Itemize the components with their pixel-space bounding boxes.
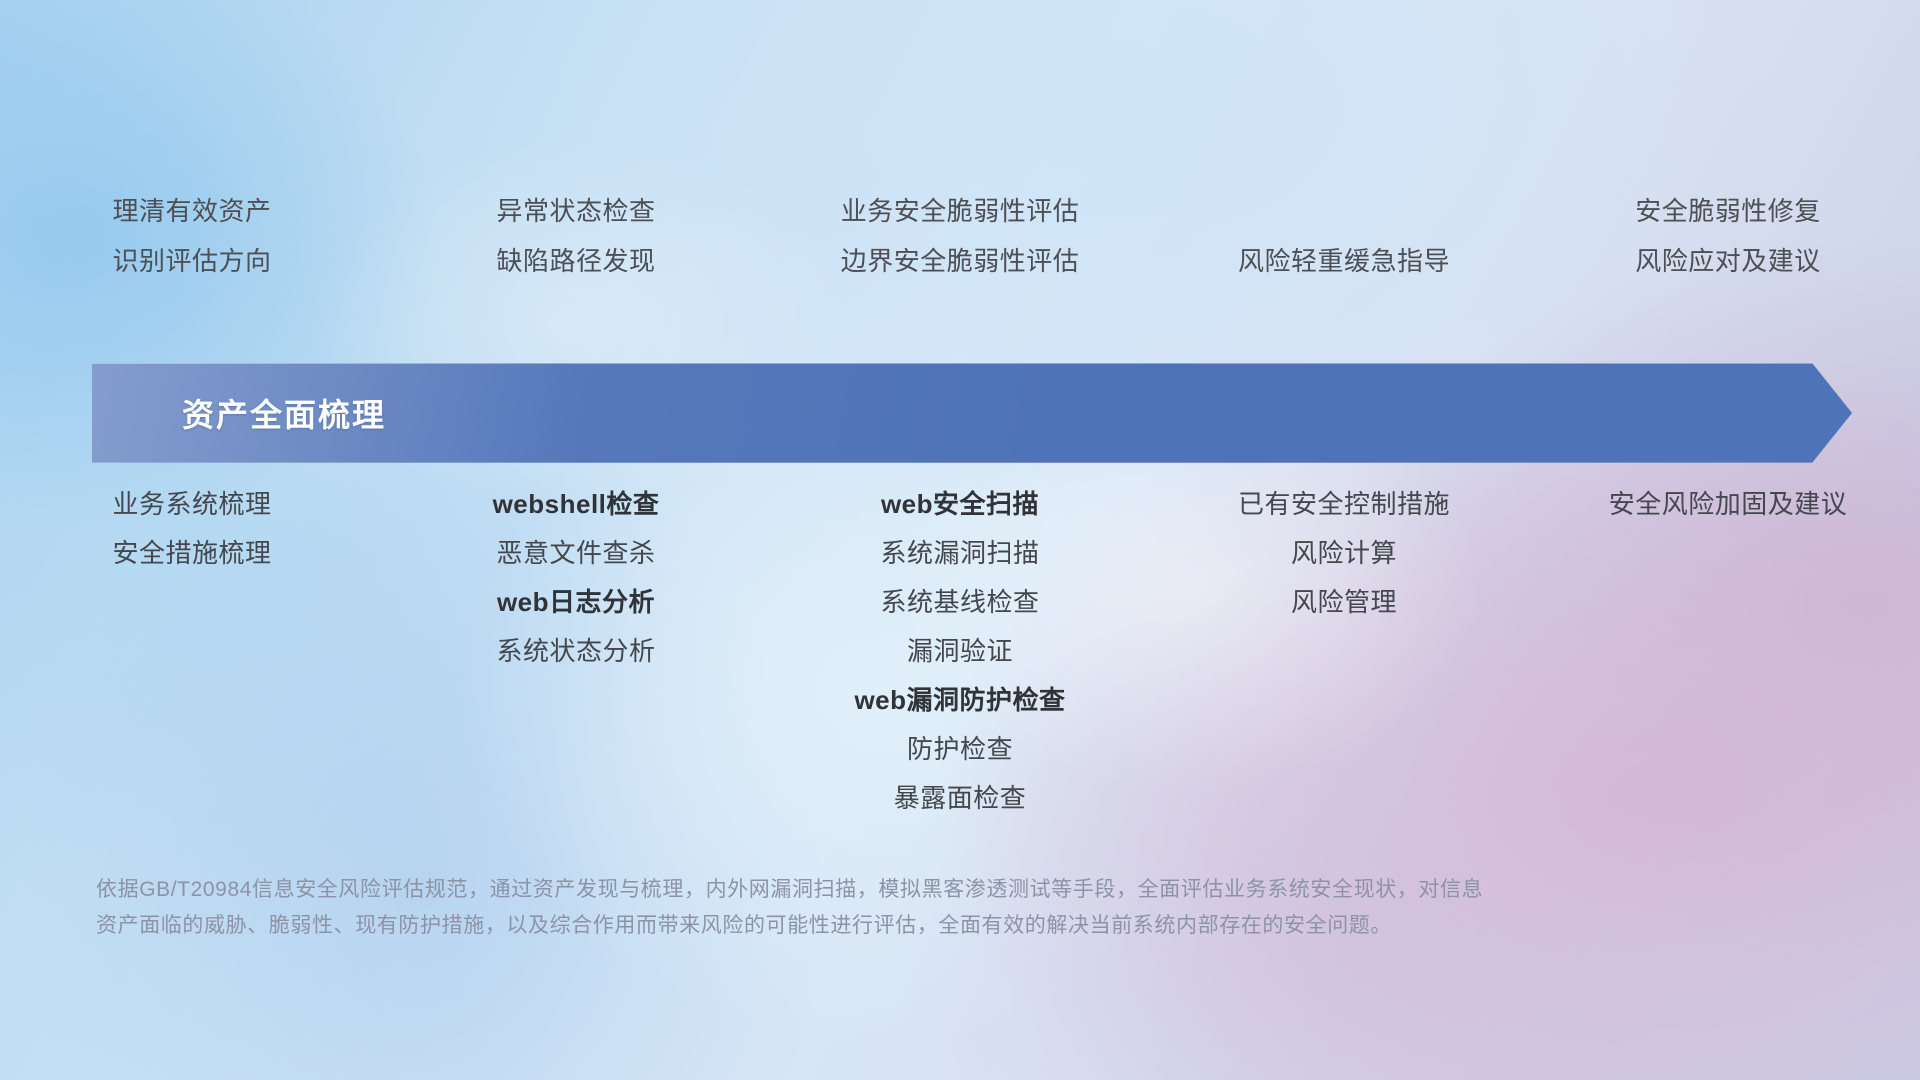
bottom-item: 系统漏洞扫描 bbox=[880, 529, 1039, 578]
bottom-item: 已有安全控制措施 bbox=[1238, 480, 1450, 529]
bottom-item: 系统状态分析 bbox=[496, 627, 655, 676]
bottom-item: 安全措施梳理 bbox=[112, 529, 271, 578]
bottom-column-risk-analysis: 已有安全控制措施风险计算风险管理 bbox=[1152, 480, 1536, 627]
footer-note: 依据GB/T20984信息安全风险评估规范，通过资产发现与梳理，内外网漏洞扫描，… bbox=[96, 872, 1756, 944]
bottom-column-intrusion-check: webshell检查恶意文件查杀web日志分析系统状态分析 bbox=[384, 480, 768, 676]
bottom-item: 业务系统梳理 bbox=[112, 480, 271, 529]
bottom-item: web安全扫描 bbox=[881, 480, 1039, 529]
top-item: 边界安全脆弱性评估 bbox=[841, 236, 1080, 286]
top-item: 缺陷路径发现 bbox=[496, 236, 655, 286]
bottom-item: 防护检查 bbox=[907, 725, 1013, 774]
chevron-label: 资产全面梳理 bbox=[182, 390, 386, 436]
bottom-item: web漏洞防护检查 bbox=[854, 676, 1065, 725]
chevron-stage-asset-inventory[interactable]: 资产全面梳理 bbox=[92, 363, 1852, 463]
bottom-item: 恶意文件查杀 bbox=[496, 529, 655, 578]
stage-top-descriptions: 理清有效资产识别评估方向异常状态检查缺陷路径发现业务安全脆弱性评估边界安全脆弱性… bbox=[0, 0, 1920, 300]
bottom-item: 安全风险加固及建议 bbox=[1609, 480, 1848, 529]
top-item: 异常状态检查 bbox=[496, 186, 655, 236]
process-diagram-page: 理清有效资产识别评估方向异常状态检查缺陷路径发现业务安全脆弱性评估边界安全脆弱性… bbox=[0, 0, 1920, 1080]
top-column-asset-inventory: 理清有效资产识别评估方向 bbox=[0, 0, 384, 300]
bottom-item: web日志分析 bbox=[497, 578, 655, 627]
top-item: 业务安全脆弱性评估 bbox=[841, 186, 1080, 236]
top-item: 风险应对及建议 bbox=[1635, 236, 1821, 286]
top-column-risk-analysis: 风险轻重缓急指导 bbox=[1152, 0, 1536, 300]
footer-line-1: 依据GB/T20984信息安全风险评估规范，通过资产发现与梳理，内外网漏洞扫描，… bbox=[96, 872, 1756, 908]
bottom-item: 风险计算 bbox=[1291, 529, 1397, 578]
bottom-item: 暴露面检查 bbox=[894, 774, 1027, 823]
chevron-process-band: 风险评估报告风险分析全面弱点检测精准入侵检查资产全面梳理 bbox=[92, 363, 1852, 463]
bottom-item: webshell检查 bbox=[493, 480, 660, 529]
bottom-column-asset-inventory: 业务系统梳理安全措施梳理 bbox=[0, 480, 384, 578]
bottom-item: 风险管理 bbox=[1291, 578, 1397, 627]
stage-bottom-detail-lists: 业务系统梳理安全措施梳理webshell检查恶意文件查杀web日志分析系统状态分… bbox=[0, 480, 1920, 823]
top-item: 安全脆弱性修复 bbox=[1635, 186, 1821, 236]
top-item: 理清有效资产 bbox=[112, 186, 271, 236]
bottom-column-weakness-detection: web安全扫描系统漏洞扫描系统基线检查漏洞验证web漏洞防护检查防护检查暴露面检… bbox=[768, 480, 1152, 823]
top-column-risk-report: 安全脆弱性修复风险应对及建议 bbox=[1536, 0, 1920, 300]
top-item: 风险轻重缓急指导 bbox=[1238, 236, 1450, 286]
bottom-column-risk-report: 安全风险加固及建议 bbox=[1536, 480, 1920, 529]
top-column-intrusion-check: 异常状态检查缺陷路径发现 bbox=[384, 0, 768, 300]
top-column-weakness-detection: 业务安全脆弱性评估边界安全脆弱性评估 bbox=[768, 0, 1152, 300]
top-item: 识别评估方向 bbox=[112, 236, 271, 286]
bottom-item: 系统基线检查 bbox=[880, 578, 1039, 627]
footer-line-2: 资产面临的威胁、脆弱性、现有防护措施，以及综合作用而带来风险的可能性进行评估，全… bbox=[96, 908, 1756, 944]
bottom-item: 漏洞验证 bbox=[907, 627, 1013, 676]
